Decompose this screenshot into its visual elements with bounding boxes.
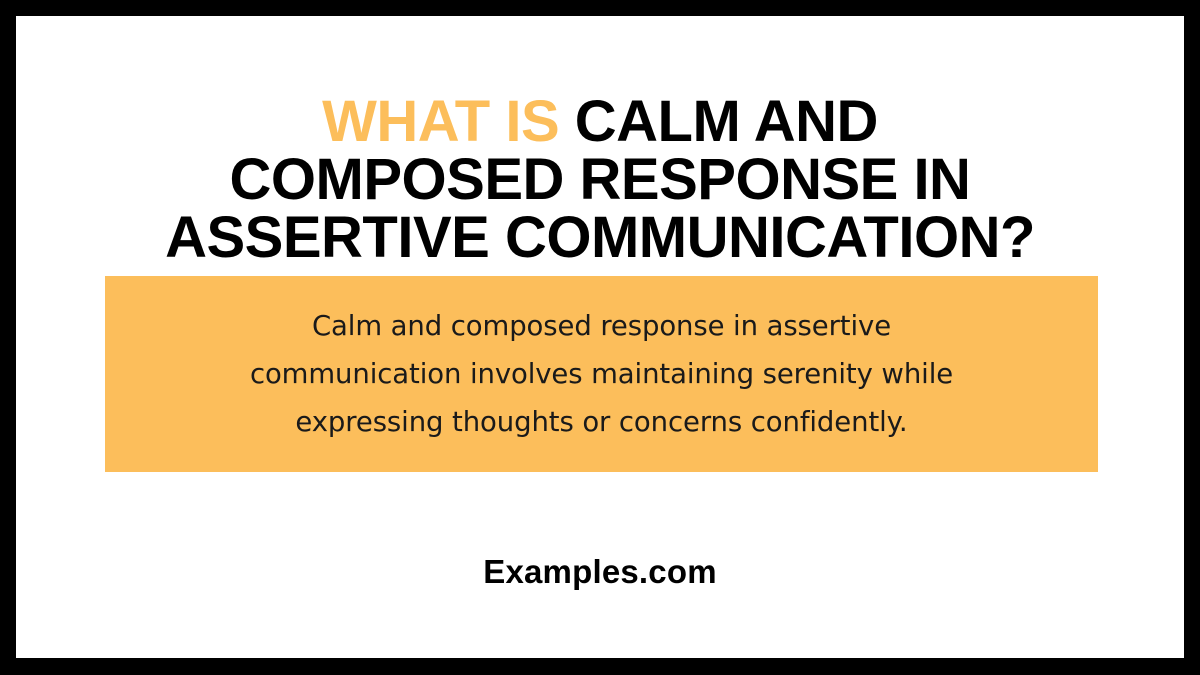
title-line-1: WHAT IS CALM AND — [16, 93, 1184, 151]
definition-line-1: Calm and composed response in assertive — [250, 302, 953, 350]
page-title: WHAT IS CALM AND COMPOSED RESPONSE IN AS… — [16, 93, 1184, 267]
title-accent-text: WHAT IS — [322, 89, 559, 154]
title-line-2: COMPOSED RESPONSE IN — [16, 151, 1184, 209]
title-line-3: ASSERTIVE COMMUNICATION? — [16, 209, 1184, 267]
brand-footer: Examples.com — [16, 552, 1184, 592]
definition-line-3: expressing thoughts or concerns confiden… — [250, 398, 953, 446]
definition-line-2: communication involves maintaining seren… — [250, 350, 953, 398]
definition-callout-box: Calm and composed response in assertive … — [105, 276, 1098, 472]
infographic-card: WHAT IS CALM AND COMPOSED RESPONSE IN AS… — [16, 16, 1184, 658]
definition-text: Calm and composed response in assertive … — [250, 302, 953, 446]
title-main-text-1: CALM AND — [575, 89, 878, 154]
